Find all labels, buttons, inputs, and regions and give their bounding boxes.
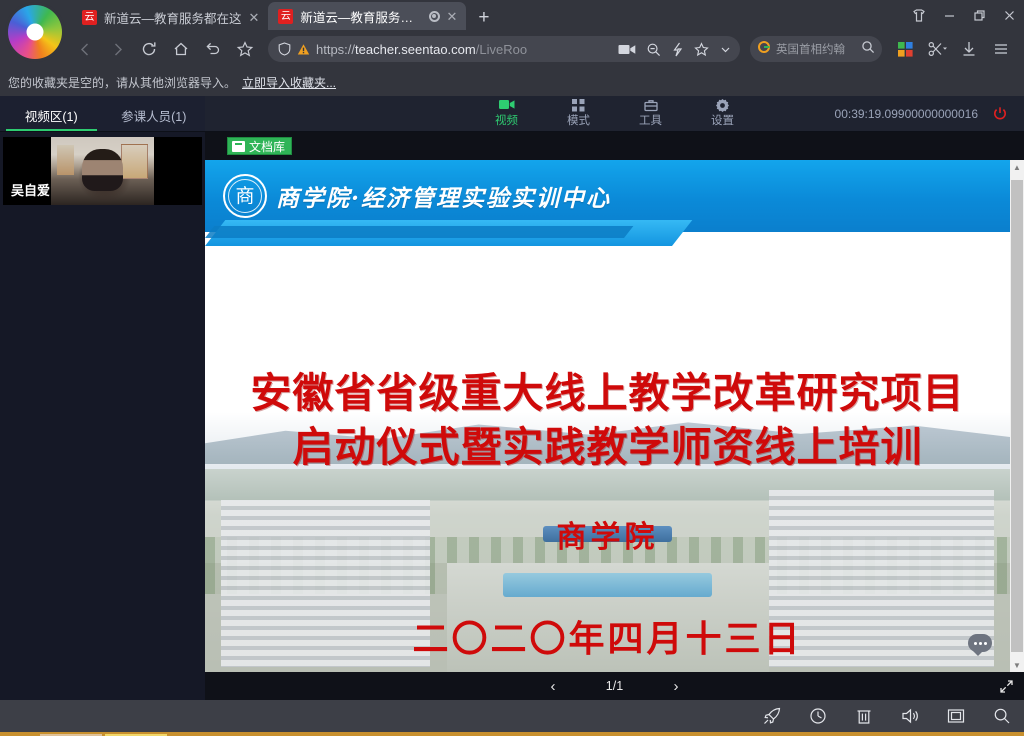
left-panel-tabs: 视频区(1) 参课人员(1) [0, 96, 205, 131]
tab-strip: 云 新道云—教育服务都在这 ✕ 云 新道云—教育服务都在这 ✕ + [0, 0, 1024, 30]
document-panel: 文档库 商 商学院·经济管理实验实训中心 [205, 132, 1024, 700]
close-button[interactable] [994, 0, 1024, 30]
home-icon[interactable] [166, 34, 196, 64]
chromium-orb-logo-icon [8, 5, 62, 59]
reload-icon[interactable] [134, 34, 164, 64]
menu-item-video[interactable]: 视频 [483, 99, 531, 127]
browser-tab-2[interactable]: 云 新道云—教育服务都在这 ✕ [268, 2, 466, 30]
slide-text-layer: 安徽省省级重大线上教学改革研究项目启动仪式暨实践教学师资线上培训 商学院 二〇二… [205, 160, 1010, 672]
tab-title: 新道云—教育服务都在这 [300, 7, 421, 26]
apps-grid-icon[interactable] [890, 34, 920, 64]
favorite-star-icon[interactable] [694, 42, 709, 57]
bookmark-star-icon[interactable] [230, 34, 260, 64]
window-controls [904, 0, 1024, 30]
os-taskbar [0, 732, 1024, 736]
scroll-up-arrow[interactable]: ▲ [1010, 160, 1024, 174]
tab-video-area[interactable]: 视频区(1) [0, 106, 103, 131]
slide-canvas[interactable]: 商 商学院·经济管理实验实训中心 [205, 160, 1010, 672]
speaker-icon[interactable] [900, 706, 920, 726]
live-classroom-app: 视频区(1) 参课人员(1) 视频 模式 工具 [0, 96, 1024, 732]
tab-close-icon[interactable]: ✕ [447, 10, 458, 23]
tab-favicon: 云 [278, 9, 293, 24]
window-icon[interactable] [946, 706, 966, 726]
fullscreen-icon[interactable] [999, 679, 1014, 694]
warning-icon [297, 43, 310, 56]
back-icon[interactable] [70, 34, 100, 64]
document-library-tab-label: 文档库 [249, 138, 285, 155]
page-indicator: 1/1 [600, 679, 630, 693]
gear-icon [699, 99, 747, 112]
chat-bubble-icon[interactable] [968, 634, 992, 652]
app-body: 吴自爱 文档库 商 [0, 132, 1024, 700]
slide-scrollbar[interactable]: ▲ ▼ [1010, 160, 1024, 672]
scroll-down-arrow[interactable]: ▼ [1010, 658, 1024, 672]
video-frame [51, 137, 154, 205]
document-library-tab[interactable]: 文档库 [227, 137, 292, 155]
search-input[interactable]: 英国首相约翰 [776, 41, 856, 57]
lightning-icon[interactable] [671, 42, 684, 57]
participant-name-label: 吴自爱 [11, 180, 50, 199]
menu-item-settings[interactable]: 设置 [699, 99, 747, 127]
slide-date: 二〇二〇年四月十三日 [205, 610, 1010, 662]
tab-favicon: 云 [82, 10, 97, 25]
tab-title: 新道云—教育服务都在这 [104, 8, 242, 27]
address-bar[interactable]: https://teacher.seentao.com/LiveRoo [268, 36, 740, 62]
search-engine-icon [757, 40, 771, 59]
background-poster-right [121, 144, 148, 179]
scissors-icon[interactable] [922, 34, 952, 64]
search-icon[interactable] [992, 706, 1012, 726]
slide-title: 安徽省省级重大线上教学改革研究项目启动仪式暨实践教学师资线上培训 [205, 366, 1010, 474]
video-tile[interactable]: 吴自爱 [3, 137, 202, 205]
shield-icon [278, 42, 291, 56]
compass-icon[interactable] [808, 706, 828, 726]
forward-icon[interactable] [102, 34, 132, 64]
bookmarks-empty-message: 您的收藏夹是空的，请从其他浏览器导入。 [8, 74, 236, 91]
video-panel: 吴自爱 [0, 132, 205, 700]
url-path: /LiveRoo [476, 42, 527, 57]
tab-close-icon[interactable]: ✕ [249, 11, 260, 24]
menu-item-tools-label: 工具 [639, 115, 662, 127]
browser-chrome: 云 新道云—教育服务都在这 ✕ 云 新道云—教育服务都在这 ✕ + [0, 0, 1024, 96]
browser-toolbar: https://teacher.seentao.com/LiveRoo 英国首相… [0, 30, 1024, 68]
download-icon[interactable] [954, 34, 984, 64]
new-tab-button[interactable]: + [466, 8, 499, 30]
browser-tab-1[interactable]: 云 新道云—教育服务都在这 ✕ [72, 4, 268, 30]
bottom-tool-strip [0, 700, 1024, 732]
address-bar-url: https://teacher.seentao.com/LiveRoo [316, 42, 612, 57]
session-timer: 00:39:19.09900000000016 [835, 96, 978, 132]
search-submit-icon[interactable] [861, 40, 875, 59]
bookmarks-bar: 您的收藏夹是空的，请从其他浏览器导入。 立即导入收藏夹... [0, 68, 1024, 96]
slide-subtitle: 商学院 [205, 512, 1010, 556]
scrollbar-thumb[interactable] [1011, 180, 1023, 652]
menu-item-tools[interactable]: 工具 [627, 99, 675, 127]
prev-page-button[interactable]: ‹ [551, 678, 556, 695]
camera-icon[interactable] [618, 43, 636, 56]
library-icon [232, 141, 245, 152]
toolbox-icon [627, 99, 675, 112]
theme-skin-icon[interactable] [904, 0, 934, 30]
zoom-icon[interactable] [646, 42, 661, 57]
app-header: 视频区(1) 参课人员(1) 视频 模式 工具 [0, 96, 1024, 132]
power-icon[interactable] [984, 96, 1016, 132]
url-host: teacher.seentao.com [355, 42, 476, 57]
slide-viewport: 商 商学院·经济管理实验实训中心 [205, 160, 1024, 672]
menu-item-video-label: 视频 [495, 115, 518, 127]
browser-tabs: 云 新道云—教育服务都在这 ✕ 云 新道云—教育服务都在这 ✕ + [72, 2, 500, 30]
next-page-button[interactable]: › [674, 678, 679, 695]
page-nav-group: ‹ 1/1 › [551, 678, 679, 695]
url-scheme: https:// [316, 42, 355, 57]
grid-icon [555, 99, 603, 112]
trash-icon[interactable] [854, 706, 874, 726]
rocket-icon[interactable] [762, 706, 782, 726]
page-navigation-bar: ‹ 1/1 › [205, 672, 1024, 700]
camera-icon [483, 99, 531, 112]
background-poster-left [57, 145, 73, 175]
undo-icon[interactable] [198, 34, 228, 64]
tab-participants[interactable]: 参课人员(1) [103, 106, 206, 131]
minimize-button[interactable] [934, 0, 964, 30]
menu-item-settings-label: 设置 [711, 115, 734, 127]
document-tab-bar: 文档库 [205, 132, 1024, 160]
menu-item-mode-label: 模式 [567, 115, 590, 127]
participant-head [82, 149, 123, 191]
tab-recording-icon [429, 11, 440, 22]
menu-icon[interactable] [986, 34, 1016, 64]
menu-item-mode[interactable]: 模式 [555, 99, 603, 127]
restore-button[interactable] [964, 0, 994, 30]
chevron-down-icon[interactable] [719, 43, 732, 56]
import-bookmarks-link[interactable]: 立即导入收藏夹... [242, 74, 336, 91]
search-box[interactable]: 英国首相约翰 [750, 36, 882, 62]
